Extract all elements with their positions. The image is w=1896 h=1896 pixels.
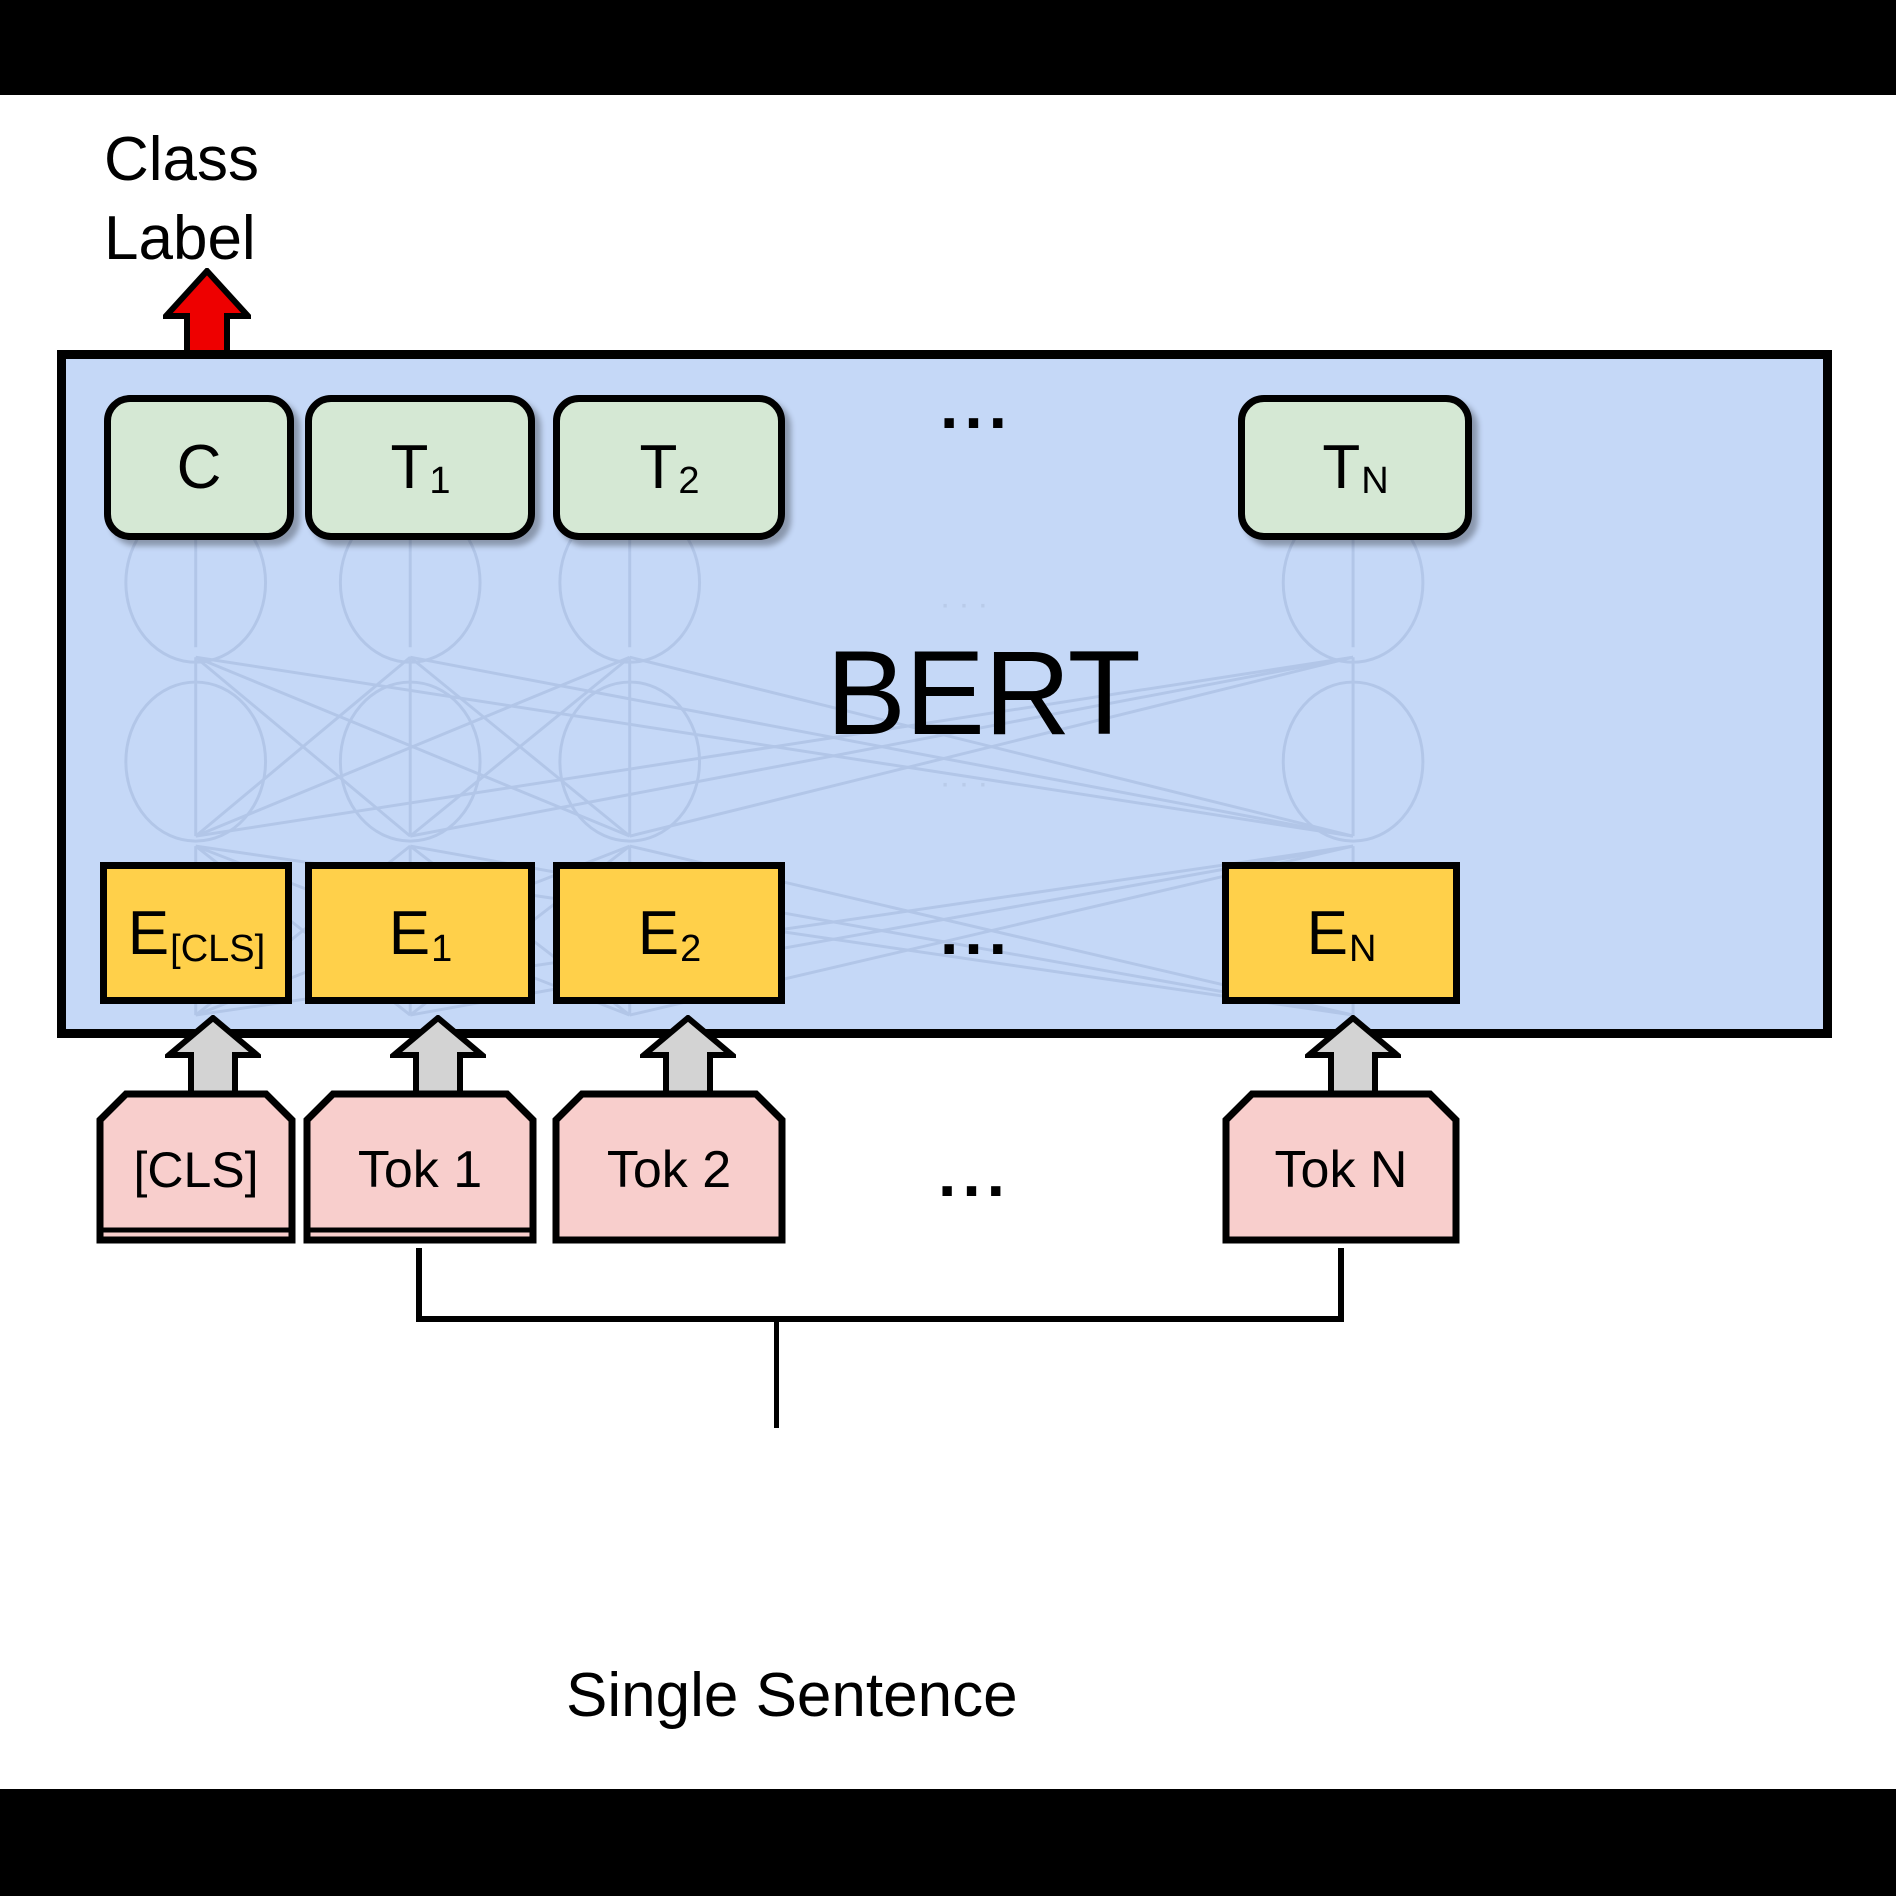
token-row-ellipsis: ... bbox=[938, 1140, 1011, 1206]
output-box-cls[interactable]: C bbox=[104, 395, 294, 540]
token-box-tokn-label: Tok N bbox=[1222, 1090, 1460, 1250]
embedding-box-cls-base: E bbox=[128, 898, 169, 969]
figure-canvas: Class Label bbox=[0, 0, 1896, 1896]
token-box-tok2-label: Tok 2 bbox=[552, 1090, 786, 1250]
output-box-t1-sub: 1 bbox=[429, 460, 450, 503]
embedding-box-e1[interactable]: E1 bbox=[305, 862, 535, 1004]
output-box-tn-base: T bbox=[1322, 432, 1360, 503]
token-box-cls-label: [CLS] bbox=[96, 1090, 296, 1250]
bracket-center-stem bbox=[774, 1316, 779, 1428]
output-box-t2-sub: 2 bbox=[678, 460, 699, 503]
embedding-row-ellipsis: ... bbox=[940, 898, 1013, 964]
output-box-t1-base: T bbox=[390, 432, 428, 503]
letterbox-bottom bbox=[0, 1789, 1896, 1896]
embedding-box-en-base: E bbox=[1307, 898, 1348, 969]
bert-title: BERT bbox=[826, 624, 1140, 762]
embedding-box-e2[interactable]: E2 bbox=[553, 862, 785, 1004]
embedding-box-en-sub: N bbox=[1349, 928, 1376, 971]
svg-text:. . .: . . . bbox=[940, 578, 987, 616]
bracket-horizontal bbox=[416, 1316, 1344, 1322]
output-box-t1[interactable]: T1 bbox=[305, 395, 535, 540]
embedding-box-e1-sub: 1 bbox=[431, 928, 452, 971]
output-row-ellipsis: ... bbox=[940, 372, 1013, 438]
embedding-box-e2-base: E bbox=[638, 898, 679, 969]
embedding-box-cls[interactable]: E[CLS] bbox=[100, 862, 292, 1004]
embedding-box-e2-sub: 2 bbox=[680, 928, 701, 971]
letterbox-top bbox=[0, 0, 1896, 95]
bracket-right-stem bbox=[1338, 1248, 1344, 1322]
output-box-cls-label: C bbox=[177, 432, 222, 503]
output-box-t2[interactable]: T2 bbox=[553, 395, 785, 540]
embedding-box-e1-base: E bbox=[389, 898, 430, 969]
embedding-box-en[interactable]: EN bbox=[1222, 862, 1460, 1004]
class-label-text: Class Label bbox=[104, 120, 444, 279]
output-box-tn-sub: N bbox=[1361, 460, 1388, 503]
token-box-tok1-label: Tok 1 bbox=[303, 1090, 537, 1250]
svg-text:. . .: . . . bbox=[940, 757, 987, 795]
embedding-box-cls-sub: [CLS] bbox=[170, 928, 265, 971]
input-caption: Single Sentence bbox=[566, 1660, 1018, 1731]
output-box-t2-base: T bbox=[639, 432, 677, 503]
output-box-tn[interactable]: TN bbox=[1238, 395, 1472, 540]
bracket-left-stem bbox=[416, 1248, 422, 1322]
